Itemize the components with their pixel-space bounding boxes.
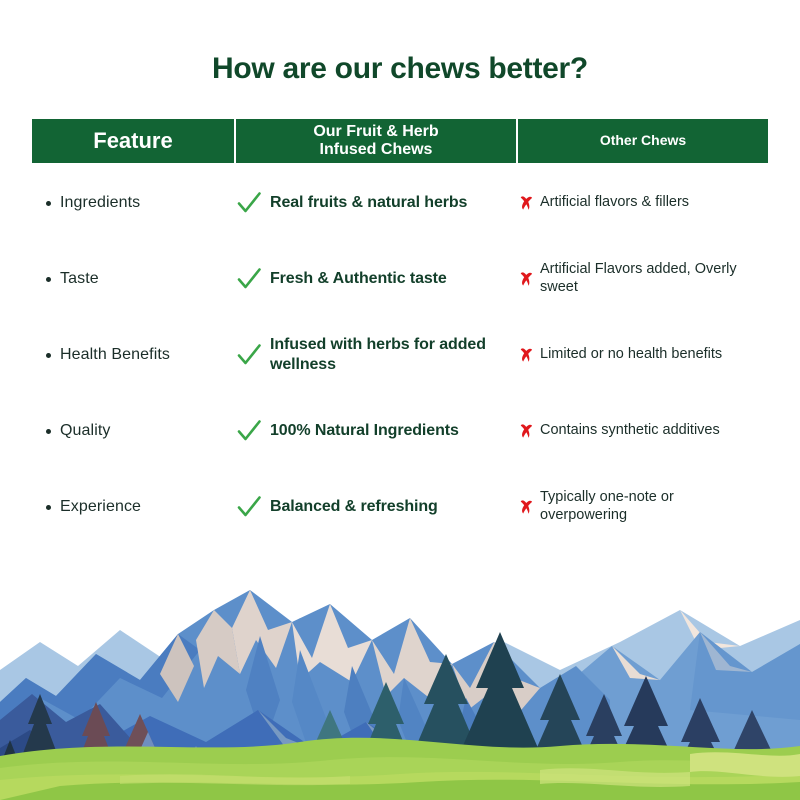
other-chews-value: Artificial flavors & fillers [540,194,689,212]
check-icon [236,418,262,444]
cell-other-chews: Limited or no health benefits [518,346,768,364]
x-icon [518,423,535,440]
cell-other-chews: Contains synthetic additives [518,422,768,440]
check-icon [236,190,262,216]
cell-our-chews: 100% Natural Ingredients [236,418,518,444]
table-row: Quality 100% Natural Ingredients Contain… [32,393,768,469]
feature-label: Ingredients [60,194,140,212]
cell-our-chews: Infused with herbs for added wellness [236,335,518,374]
infographic-page: How are our chews better? Feature Our Fr… [0,0,800,800]
cell-other-chews: Typically one-note or overpowering [518,489,768,525]
our-chews-value: Fresh & Authentic taste [270,269,447,289]
bullet-icon [46,505,51,510]
check-icon [236,266,262,292]
bullet-icon [46,201,51,206]
table-row: Experience Balanced & refreshing Typical… [32,469,768,545]
our-chews-value: Real fruits & natural herbs [270,193,467,213]
other-chews-value: Typically one-note or overpowering [540,489,764,525]
page-title: How are our chews better? [0,52,800,86]
cell-feature: Taste [32,270,236,288]
check-icon [236,494,262,520]
feature-label: Health Benefits [60,346,170,364]
table-row: Ingredients Real fruits & natural herbs … [32,165,768,241]
our-chews-value: Balanced & refreshing [270,497,438,517]
cell-other-chews: Artificial Flavors added, Overly sweet [518,261,768,297]
bullet-icon [46,353,51,358]
table-row: Taste Fresh & Authentic taste Artificial… [32,241,768,317]
comparison-table: Feature Our Fruit & Herb Infused Chews O… [32,117,768,545]
x-icon [518,347,535,364]
other-chews-value: Contains synthetic additives [540,422,720,440]
our-chews-value: Infused with herbs for added wellness [270,335,512,374]
cell-our-chews: Balanced & refreshing [236,494,518,520]
cell-feature: Ingredients [32,194,236,212]
feature-label: Taste [60,270,99,288]
column-header-our-chews-line1: Our Fruit & Herb [313,123,438,140]
other-chews-value: Artificial Flavors added, Overly sweet [540,261,764,297]
table-row: Health Benefits Infused with herbs for a… [32,317,768,393]
green-meadow [0,738,800,800]
x-icon [518,499,535,516]
column-header-other-chews: Other Chews [518,119,768,163]
bullet-icon [46,277,51,282]
other-chews-value: Limited or no health benefits [540,346,722,364]
cell-feature: Health Benefits [32,346,236,364]
cell-feature: Quality [32,422,236,440]
x-icon [518,195,535,212]
mountain-forest-illustration [0,570,800,800]
cell-other-chews: Artificial flavors & fillers [518,194,768,212]
cell-our-chews: Fresh & Authentic taste [236,266,518,292]
cell-feature: Experience [32,498,236,516]
bullet-icon [46,429,51,434]
column-header-feature: Feature [32,119,236,163]
cell-our-chews: Real fruits & natural herbs [236,190,518,216]
table-header-row: Feature Our Fruit & Herb Infused Chews O… [32,117,768,165]
our-chews-value: 100% Natural Ingredients [270,421,459,441]
check-icon [236,342,262,368]
x-icon [518,271,535,288]
feature-label: Experience [60,498,141,516]
feature-label: Quality [60,422,111,440]
column-header-our-chews: Our Fruit & Herb Infused Chews [236,119,518,163]
table-body: Ingredients Real fruits & natural herbs … [32,165,768,545]
column-header-our-chews-line2: Infused Chews [320,141,433,158]
